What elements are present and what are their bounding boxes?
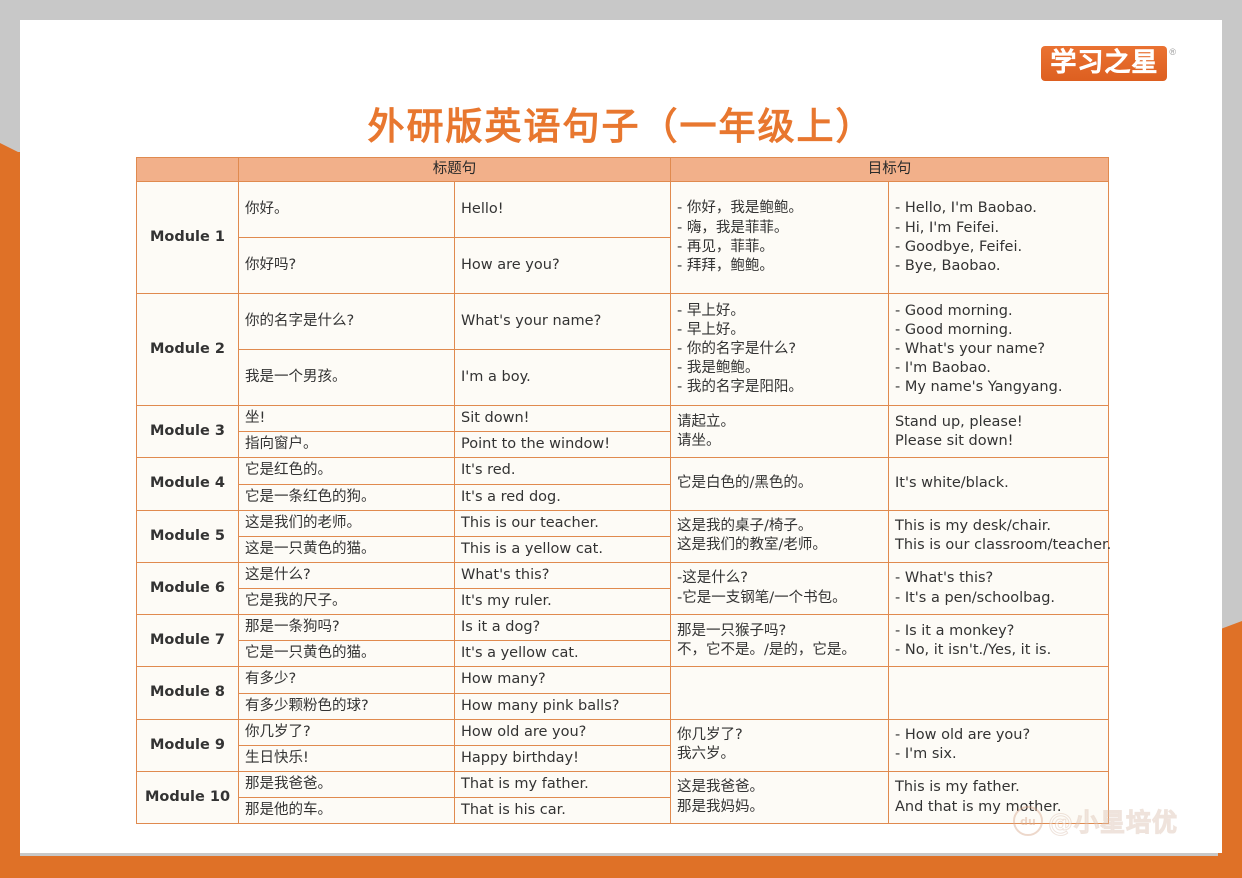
target-line-en: - My name's Yangyang. xyxy=(895,378,1102,397)
target-line-cn: 这是我的桌子/椅子。 xyxy=(677,517,882,536)
module-label-3: Module 3 xyxy=(137,406,239,458)
worksheet-card: 学习之星 ® 外研版英语句子（一年级上） 标题句 目标句 Module 1你好。… xyxy=(20,20,1222,853)
title-sentence-en: It's red. xyxy=(455,458,671,484)
title-sentence-cn: 它是我的尺子。 xyxy=(239,589,455,615)
target-sentence-en: - Hello, I'm Baobao.- Hi, I'm Feifei.- G… xyxy=(889,182,1109,294)
decor-band-left xyxy=(0,152,20,878)
title-sentence-cn: 你好。 xyxy=(239,182,455,238)
table-row: Module 9你几岁了?How old are you?你几岁了?我六岁。- … xyxy=(137,719,1109,745)
title-sentence-cn: 那是一条狗吗? xyxy=(239,615,455,641)
table-row: Module 1你好。Hello!- 你好，我是鲍鲍。- 嗨，我是菲菲。- 再见… xyxy=(137,182,1109,238)
target-line-en: - Hi, I'm Feifei. xyxy=(895,219,1102,238)
target-line-cn: 那是一只猴子吗? xyxy=(677,622,882,641)
title-sentence-en: I'm a boy. xyxy=(455,350,671,406)
target-line-cn: - 你好，我是鲍鲍。 xyxy=(677,199,882,218)
module-label-10: Module 10 xyxy=(137,771,239,823)
target-sentence-cn: - 早上好。- 早上好。- 你的名字是什么?- 我是鲍鲍。- 我的名字是阳阳。 xyxy=(671,294,889,406)
title-sentence-en: Happy birthday! xyxy=(455,745,671,771)
title-sentence-en: How many? xyxy=(455,667,671,693)
title-sentence-cn: 它是一只黄色的猫。 xyxy=(239,641,455,667)
title-sentence-cn: 指向窗户。 xyxy=(239,432,455,458)
title-sentence-cn: 你好吗? xyxy=(239,238,455,294)
table-row: Module 4它是红色的。It's red.它是白色的/黑色的。It's wh… xyxy=(137,458,1109,484)
sentence-table-wrapper: 标题句 目标句 Module 1你好。Hello!- 你好，我是鲍鲍。- 嗨，我… xyxy=(136,157,1108,824)
title-sentence-cn: 这是什么? xyxy=(239,562,455,588)
title-sentence-en: What's your name? xyxy=(455,294,671,350)
table-row: Module 2你的名字是什么?What's your name?- 早上好。-… xyxy=(137,294,1109,350)
title-sentence-cn: 有多少颗粉色的球? xyxy=(239,693,455,719)
module-label-7: Module 7 xyxy=(137,615,239,667)
module-label-8: Module 8 xyxy=(137,667,239,719)
title-sentence-cn: 它是一条红色的狗。 xyxy=(239,484,455,510)
target-sentence-cn: 这是我的桌子/椅子。这是我们的教室/老师。 xyxy=(671,510,889,562)
table-row: Module 8有多少?How many? xyxy=(137,667,1109,693)
table-row: Module 6这是什么?What's this?-这是什么?-它是一支钢笔/一… xyxy=(137,562,1109,588)
target-sentence-en: - How old are you?- I'm six. xyxy=(889,719,1109,771)
brand-logo-text: 学习之星 xyxy=(1041,46,1167,81)
target-sentence-en: It's white/black. xyxy=(889,458,1109,510)
title-sentence-cn: 它是红色的。 xyxy=(239,458,455,484)
table-row: Module 7那是一条狗吗?Is it a dog?那是一只猴子吗?不，它不是… xyxy=(137,615,1109,641)
target-line-cn: - 再见，菲菲。 xyxy=(677,238,882,257)
target-sentence-cn: 你几岁了?我六岁。 xyxy=(671,719,889,771)
target-line-cn: 它是白色的/黑色的。 xyxy=(677,474,882,493)
target-line-cn: 不，它不是。/是的，它是。 xyxy=(677,641,882,660)
target-line-en: This is my desk/chair. xyxy=(895,517,1102,536)
target-line-cn: - 你的名字是什么? xyxy=(677,340,882,359)
target-line-en: - It's a pen/schoolbag. xyxy=(895,589,1102,608)
table-row: Module 3坐!Sit down!请起立。请坐。Stand up, plea… xyxy=(137,406,1109,432)
table-body: Module 1你好。Hello!- 你好，我是鲍鲍。- 嗨，我是菲菲。- 再见… xyxy=(137,182,1109,824)
decor-band-bottom xyxy=(0,856,1242,878)
sentence-table: 标题句 目标句 Module 1你好。Hello!- 你好，我是鲍鲍。- 嗨，我… xyxy=(136,157,1109,824)
target-line-cn: - 嗨，我是菲菲。 xyxy=(677,219,882,238)
title-sentence-en: How many pink balls? xyxy=(455,693,671,719)
baidu-paw-icon: du xyxy=(1013,806,1043,836)
header-title-sentence: 标题句 xyxy=(239,158,671,182)
target-sentence-en: - Good morning.- Good morning.- What's y… xyxy=(889,294,1109,406)
target-line-en: - I'm Baobao. xyxy=(895,359,1102,378)
page-title: 外研版英语句子（一年级上） xyxy=(20,96,1222,150)
title-sentence-en: Sit down! xyxy=(455,406,671,432)
target-sentence-cn: - 你好，我是鲍鲍。- 嗨，我是菲菲。- 再见，菲菲。- 拜拜，鲍鲍。 xyxy=(671,182,889,294)
target-line-en: - Is it a monkey? xyxy=(895,622,1102,641)
title-sentence-en: That is my father. xyxy=(455,771,671,797)
title-sentence-cn: 那是他的车。 xyxy=(239,798,455,824)
table-header-row: 标题句 目标句 xyxy=(137,158,1109,182)
target-line-cn: 我六岁。 xyxy=(677,745,882,764)
target-line-cn: - 早上好。 xyxy=(677,321,882,340)
target-line-en: - Good morning. xyxy=(895,321,1102,340)
target-line-en: - What's your name? xyxy=(895,340,1102,359)
registered-trademark-icon: ® xyxy=(1169,47,1176,57)
title-sentence-en: Point to the window! xyxy=(455,432,671,458)
target-sentence-cn: 那是一只猴子吗?不，它不是。/是的，它是。 xyxy=(671,615,889,667)
title-sentence-cn: 你的名字是什么? xyxy=(239,294,455,350)
title-sentence-cn: 这是一只黄色的猫。 xyxy=(239,536,455,562)
target-line-en: This is my father. xyxy=(895,778,1102,797)
target-sentence-en: - What's this?- It's a pen/schoolbag. xyxy=(889,562,1109,614)
watermark: du @小星培优 xyxy=(1013,803,1178,839)
brand-logo: 学习之星 ® xyxy=(1041,46,1176,81)
title-sentence-cn: 生日快乐! xyxy=(239,745,455,771)
title-sentence-en: It's a yellow cat. xyxy=(455,641,671,667)
table-row: Module 10那是我爸爸。That is my father.这是我爸爸。那… xyxy=(137,771,1109,797)
target-line-cn: - 早上好。 xyxy=(677,302,882,321)
title-sentence-cn: 有多少? xyxy=(239,667,455,693)
title-sentence-en: This is our teacher. xyxy=(455,510,671,536)
watermark-text: @小星培优 xyxy=(1048,803,1178,839)
module-label-5: Module 5 xyxy=(137,510,239,562)
target-line-cn: 请坐。 xyxy=(677,432,882,451)
title-sentence-en: What's this? xyxy=(455,562,671,588)
title-sentence-en: Is it a dog? xyxy=(455,615,671,641)
target-line-en: This is our classroom/teacher. xyxy=(895,536,1102,555)
target-line-cn: - 拜拜，鲍鲍。 xyxy=(677,257,882,276)
title-sentence-cn: 你几岁了? xyxy=(239,719,455,745)
title-sentence-cn: 我是一个男孩。 xyxy=(239,350,455,406)
target-line-en: Stand up, please! xyxy=(895,413,1102,432)
target-line-en: - What's this? xyxy=(895,569,1102,588)
target-sentence-cn xyxy=(671,667,889,719)
target-sentence-cn: 它是白色的/黑色的。 xyxy=(671,458,889,510)
target-line-en: - Bye, Baobao. xyxy=(895,257,1102,276)
target-line-cn: - 我是鲍鲍。 xyxy=(677,359,882,378)
title-sentence-en: How are you? xyxy=(455,238,671,294)
module-label-9: Module 9 xyxy=(137,719,239,771)
target-line-cn: -它是一支钢笔/一个书包。 xyxy=(677,589,882,608)
target-sentence-en: Stand up, please!Please sit down! xyxy=(889,406,1109,458)
target-line-en: - Goodbye, Feifei. xyxy=(895,238,1102,257)
target-line-cn: 那是我妈妈。 xyxy=(677,798,882,817)
target-line-en: - No, it isn't./Yes, it is. xyxy=(895,641,1102,660)
table-row: Module 5这是我们的老师。This is our teacher.这是我的… xyxy=(137,510,1109,536)
title-sentence-en: How old are you? xyxy=(455,719,671,745)
target-sentence-en: This is my desk/chair.This is our classr… xyxy=(889,510,1109,562)
target-line-en: - Good morning. xyxy=(895,302,1102,321)
target-line-cn: 这是我爸爸。 xyxy=(677,778,882,797)
target-line-en: Please sit down! xyxy=(895,432,1102,451)
module-label-6: Module 6 xyxy=(137,562,239,614)
title-sentence-cn: 这是我们的老师。 xyxy=(239,510,455,536)
target-sentence-cn: 这是我爸爸。那是我妈妈。 xyxy=(671,771,889,823)
title-sentence-en: This is a yellow cat. xyxy=(455,536,671,562)
header-target-sentence: 目标句 xyxy=(671,158,1109,182)
module-label-4: Module 4 xyxy=(137,458,239,510)
target-line-cn: - 我的名字是阳阳。 xyxy=(677,378,882,397)
target-sentence-en xyxy=(889,667,1109,719)
target-line-cn: 这是我们的教室/老师。 xyxy=(677,536,882,555)
module-label-1: Module 1 xyxy=(137,182,239,294)
target-sentence-cn: -这是什么?-它是一支钢笔/一个书包。 xyxy=(671,562,889,614)
title-sentence-en: That is his car. xyxy=(455,798,671,824)
title-sentence-cn: 坐! xyxy=(239,406,455,432)
title-sentence-en: It's my ruler. xyxy=(455,589,671,615)
target-line-cn: 你几岁了? xyxy=(677,726,882,745)
target-line-cn: 请起立。 xyxy=(677,413,882,432)
target-line-en: - Hello, I'm Baobao. xyxy=(895,199,1102,218)
header-module xyxy=(137,158,239,182)
target-line-cn: -这是什么? xyxy=(677,569,882,588)
target-sentence-cn: 请起立。请坐。 xyxy=(671,406,889,458)
module-label-2: Module 2 xyxy=(137,294,239,406)
target-line-en: - I'm six. xyxy=(895,745,1102,764)
title-sentence-en: It's a red dog. xyxy=(455,484,671,510)
target-line-en: - How old are you? xyxy=(895,726,1102,745)
target-sentence-en: - Is it a monkey?- No, it isn't./Yes, it… xyxy=(889,615,1109,667)
title-sentence-cn: 那是我爸爸。 xyxy=(239,771,455,797)
title-sentence-en: Hello! xyxy=(455,182,671,238)
target-line-en: It's white/black. xyxy=(895,474,1102,493)
